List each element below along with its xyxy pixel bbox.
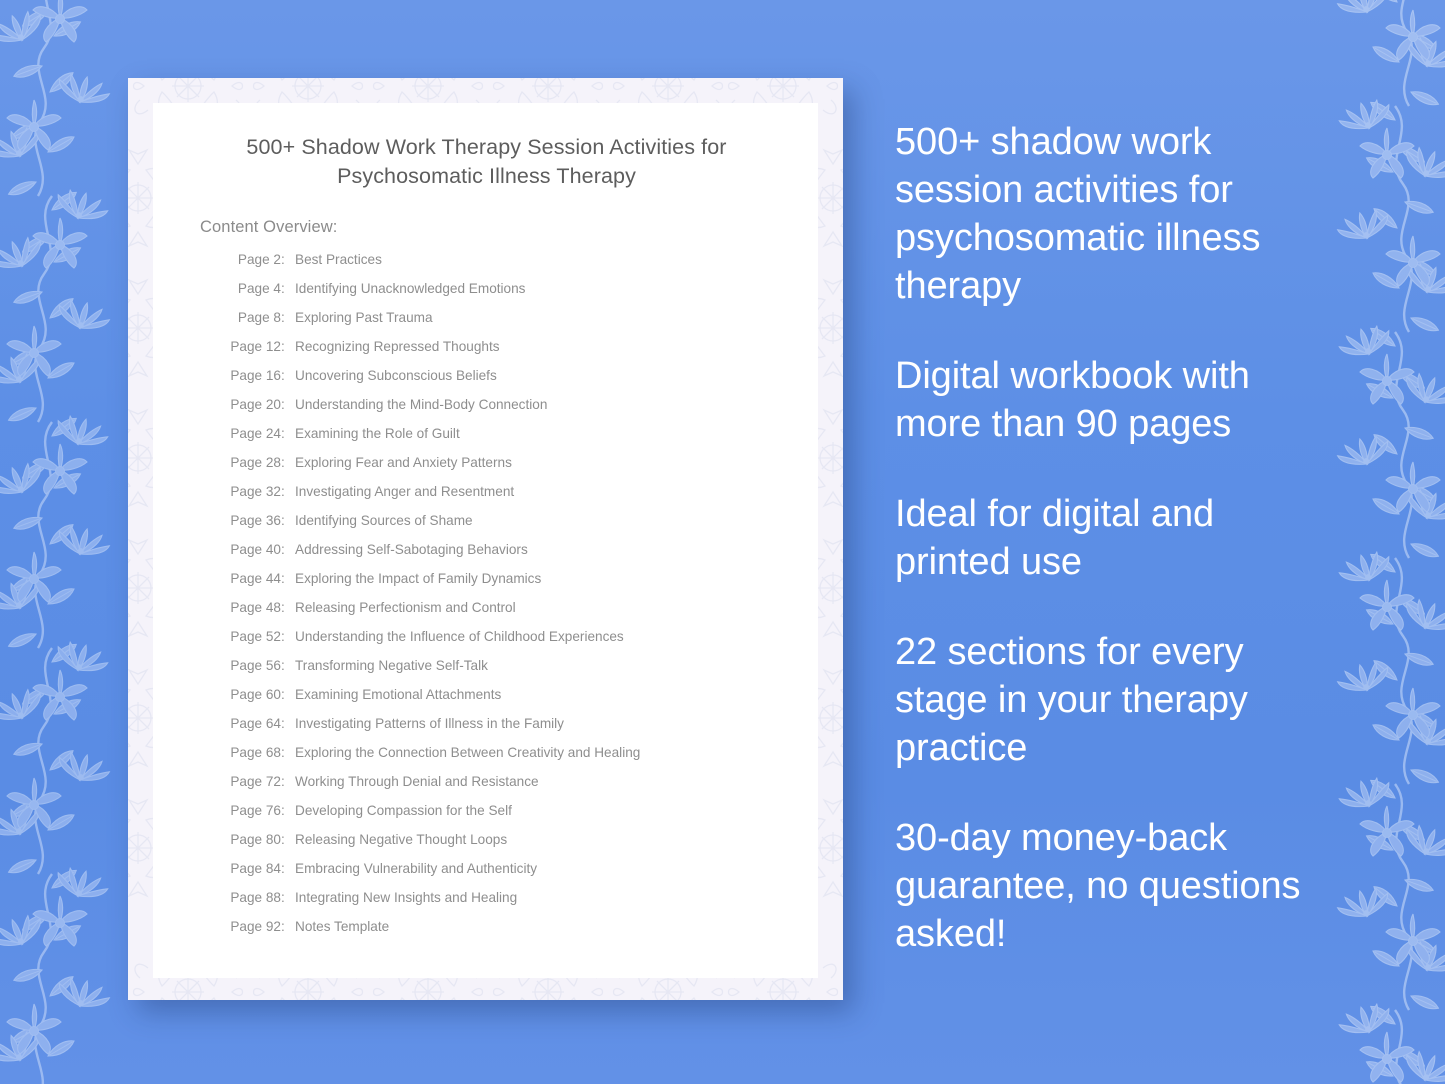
toc-colon: :	[281, 398, 290, 412]
toc-page-number: Page 48	[221, 601, 281, 615]
toc-page-number: Page 36	[221, 514, 281, 528]
toc-page-number: Page 16	[221, 369, 281, 383]
toc-colon: :	[281, 659, 290, 673]
toc-page-number: Page 72	[221, 775, 281, 789]
toc-colon: :	[281, 775, 290, 789]
toc-colon: :	[281, 253, 290, 267]
toc-page-number: Page 32	[221, 485, 281, 499]
toc-colon: :	[281, 311, 290, 325]
toc-entry-title: Recognizing Repressed Thoughts	[290, 340, 500, 354]
toc-page-number: Page 2	[221, 253, 281, 267]
toc-entry-title: Notes Template	[290, 920, 389, 934]
promo-text-block: 22 sections for every stage in your ther…	[895, 628, 1325, 772]
toc-page-number: Page 56	[221, 659, 281, 673]
toc-row: Page 84:Embracing Vulnerability and Auth…	[221, 862, 806, 891]
toc-colon: :	[281, 514, 290, 528]
product-mockup-canvas: 500+ Shadow Work Therapy Session Activit…	[0, 0, 1445, 1084]
toc-entry-title: Understanding the Mind-Body Connection	[290, 398, 547, 412]
toc-page-number: Page 8	[221, 311, 281, 325]
toc-row: Page 92:Notes Template	[221, 920, 806, 949]
toc-entry-title: Embracing Vulnerability and Authenticity	[290, 862, 537, 876]
toc-entry-title: Investigating Anger and Resentment	[290, 485, 514, 499]
toc-row: Page 48:Releasing Perfectionism and Cont…	[221, 601, 806, 630]
toc-page-number: Page 52	[221, 630, 281, 644]
toc-entry-title: Understanding the Influence of Childhood…	[290, 630, 624, 644]
toc-entry-title: Developing Compassion for the Self	[290, 804, 512, 818]
toc-page-number: Page 88	[221, 891, 281, 905]
toc-row: Page 80:Releasing Negative Thought Loops	[221, 833, 806, 862]
toc-row: Page 4:Identifying Unacknowledged Emotio…	[221, 282, 806, 311]
toc-row: Page 8:Exploring Past Trauma	[221, 311, 806, 340]
toc-row: Page 16:Uncovering Subconscious Beliefs	[221, 369, 806, 398]
toc-page-number: Page 40	[221, 543, 281, 557]
toc-row: Page 2:Best Practices	[221, 253, 806, 282]
toc-entry-title: Releasing Negative Thought Loops	[290, 833, 507, 847]
toc-row: Page 88:Integrating New Insights and Hea…	[221, 891, 806, 920]
floral-vine-border-left-icon	[0, 0, 142, 1084]
promo-panel: 500+ shadow work session activities for …	[895, 118, 1325, 958]
toc-page-number: Page 68	[221, 746, 281, 760]
toc-entry-title: Exploring the Impact of Family Dynamics	[290, 572, 541, 586]
toc-row: Page 52:Understanding the Influence of C…	[221, 630, 806, 659]
toc-colon: :	[281, 717, 290, 731]
toc-entry-title: Working Through Denial and Resistance	[290, 775, 539, 789]
toc-colon: :	[281, 282, 290, 296]
toc-row: Page 20:Understanding the Mind-Body Conn…	[221, 398, 806, 427]
toc-page-number: Page 44	[221, 572, 281, 586]
toc-page-number: Page 80	[221, 833, 281, 847]
toc-entry-title: Integrating New Insights and Healing	[290, 891, 517, 905]
promo-text-block: Ideal for digital and printed use	[895, 490, 1325, 586]
toc-entry-title: Transforming Negative Self-Talk	[290, 659, 488, 673]
toc-row: Page 12:Recognizing Repressed Thoughts	[221, 340, 806, 369]
toc-colon: :	[281, 340, 290, 354]
toc-entry-title: Examining the Role of Guilt	[290, 427, 460, 441]
toc-colon: :	[281, 572, 290, 586]
toc-entry-title: Identifying Unacknowledged Emotions	[290, 282, 525, 296]
toc-colon: :	[281, 920, 290, 934]
toc-row: Page 24:Examining the Role of Guilt	[221, 427, 806, 456]
toc-colon: :	[281, 804, 290, 818]
toc-row: Page 40:Addressing Self-Sabotaging Behav…	[221, 543, 806, 572]
toc-colon: :	[281, 833, 290, 847]
toc-entry-title: Exploring the Connection Between Creativ…	[290, 746, 640, 760]
page-title: 500+ Shadow Work Therapy Session Activit…	[189, 133, 784, 191]
toc-page-number: Page 4	[221, 282, 281, 296]
toc-row: Page 76:Developing Compassion for the Se…	[221, 804, 806, 833]
toc-colon: :	[281, 746, 290, 760]
table-of-contents: Page 2:Best PracticesPage 4:Identifying …	[221, 253, 806, 949]
toc-entry-title: Releasing Perfectionism and Control	[290, 601, 516, 615]
toc-row: Page 28:Exploring Fear and Anxiety Patte…	[221, 456, 806, 485]
toc-row: Page 44:Exploring the Impact of Family D…	[221, 572, 806, 601]
workbook-card: 500+ Shadow Work Therapy Session Activit…	[128, 78, 843, 1000]
toc-entry-title: Investigating Patterns of Illness in the…	[290, 717, 564, 731]
promo-text-block: 30-day money-back guarantee, no question…	[895, 814, 1325, 958]
toc-page-number: Page 24	[221, 427, 281, 441]
toc-page-number: Page 20	[221, 398, 281, 412]
toc-colon: :	[281, 543, 290, 557]
toc-page-number: Page 84	[221, 862, 281, 876]
toc-page-number: Page 64	[221, 717, 281, 731]
toc-entry-title: Identifying Sources of Shame	[290, 514, 473, 528]
toc-colon: :	[281, 456, 290, 470]
toc-page-number: Page 60	[221, 688, 281, 702]
toc-colon: :	[281, 485, 290, 499]
toc-colon: :	[281, 601, 290, 615]
toc-page-number: Page 12	[221, 340, 281, 354]
toc-row: Page 56:Transforming Negative Self-Talk	[221, 659, 806, 688]
toc-colon: :	[281, 630, 290, 644]
toc-page-number: Page 28	[221, 456, 281, 470]
toc-entry-title: Addressing Self-Sabotaging Behaviors	[290, 543, 528, 557]
content-overview-label: Content Overview:	[200, 218, 337, 237]
floral-vine-border-right-icon	[1305, 0, 1445, 1084]
toc-entry-title: Examining Emotional Attachments	[290, 688, 501, 702]
workbook-page: 500+ Shadow Work Therapy Session Activit…	[153, 103, 818, 978]
toc-entry-title: Uncovering Subconscious Beliefs	[290, 369, 497, 383]
toc-entry-title: Best Practices	[290, 253, 382, 267]
toc-page-number: Page 76	[221, 804, 281, 818]
toc-colon: :	[281, 688, 290, 702]
toc-row: Page 60:Examining Emotional Attachments	[221, 688, 806, 717]
toc-row: Page 68:Exploring the Connection Between…	[221, 746, 806, 775]
toc-colon: :	[281, 427, 290, 441]
toc-entry-title: Exploring Fear and Anxiety Patterns	[290, 456, 512, 470]
toc-entry-title: Exploring Past Trauma	[290, 311, 433, 325]
toc-page-number: Page 92	[221, 920, 281, 934]
promo-text-block: 500+ shadow work session activities for …	[895, 118, 1325, 310]
toc-row: Page 32:Investigating Anger and Resentme…	[221, 485, 806, 514]
toc-colon: :	[281, 369, 290, 383]
toc-colon: :	[281, 891, 290, 905]
toc-row: Page 72:Working Through Denial and Resis…	[221, 775, 806, 804]
promo-text-block: Digital workbook with more than 90 pages	[895, 352, 1325, 448]
toc-row: Page 64:Investigating Patterns of Illnes…	[221, 717, 806, 746]
toc-colon: :	[281, 862, 290, 876]
toc-row: Page 36:Identifying Sources of Shame	[221, 514, 806, 543]
